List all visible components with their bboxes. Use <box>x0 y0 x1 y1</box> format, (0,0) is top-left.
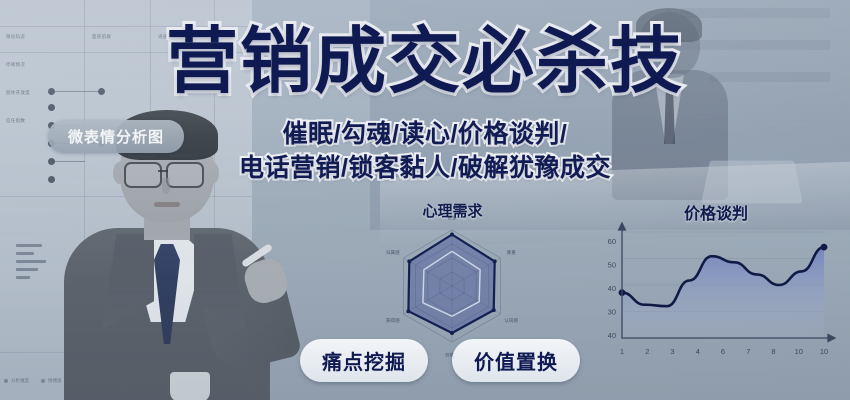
svg-text:获得感: 获得感 <box>386 317 400 324</box>
svg-text:6: 6 <box>721 347 725 356</box>
svg-text:8: 8 <box>771 347 775 356</box>
subtitle-line-2: 电话营销/锁客黏人/破解犹豫成交 <box>0 152 850 186</box>
svg-text:归属感: 归属感 <box>386 249 400 256</box>
svg-text:10: 10 <box>820 347 828 356</box>
svg-text:尊重: 尊重 <box>507 249 517 256</box>
svg-text:3: 3 <box>670 347 674 356</box>
svg-text:认同感: 认同感 <box>504 317 518 324</box>
page-title: 营销成交必杀技 <box>0 26 850 98</box>
svg-text:40: 40 <box>608 331 616 340</box>
svg-text:2: 2 <box>645 347 649 356</box>
promo-banner: 眼动轨迹 面部肌群 语速变化 停顿频次 肢体开放度 信任指数 分析维度 情绪值 … <box>0 0 850 400</box>
svg-text:30: 30 <box>608 308 616 317</box>
svg-text:1: 1 <box>620 347 624 356</box>
svg-text:60: 60 <box>608 237 616 246</box>
svg-text:7: 7 <box>746 347 750 356</box>
subtitle-line-1: 催眠/勾魂/读心/价格谈判/ <box>0 118 850 152</box>
pill-value-exchange[interactable]: 价值置换 <box>452 339 580 382</box>
svg-text:4: 4 <box>696 347 700 356</box>
pill-pain-point[interactable]: 痛点挖掘 <box>300 339 428 382</box>
svg-text:10: 10 <box>795 347 803 356</box>
subtitle-group: 催眠/勾魂/读心/价格谈判/ 电话营销/锁客黏人/破解犹豫成交 <box>0 118 850 185</box>
line-chart-svg: 12346781010 6050403040 <box>596 222 836 372</box>
line-chart-title: 价格谈判 <box>596 200 836 224</box>
radar-chart: 心理需求 安全尊重认同感价值感获得感归属感 <box>330 200 575 360</box>
line-chart: 价格谈判 12346781010 6050403040 <box>596 200 836 375</box>
svg-text:安全: 安全 <box>447 216 457 222</box>
svg-text:50: 50 <box>608 261 616 270</box>
svg-text:40: 40 <box>608 284 616 293</box>
